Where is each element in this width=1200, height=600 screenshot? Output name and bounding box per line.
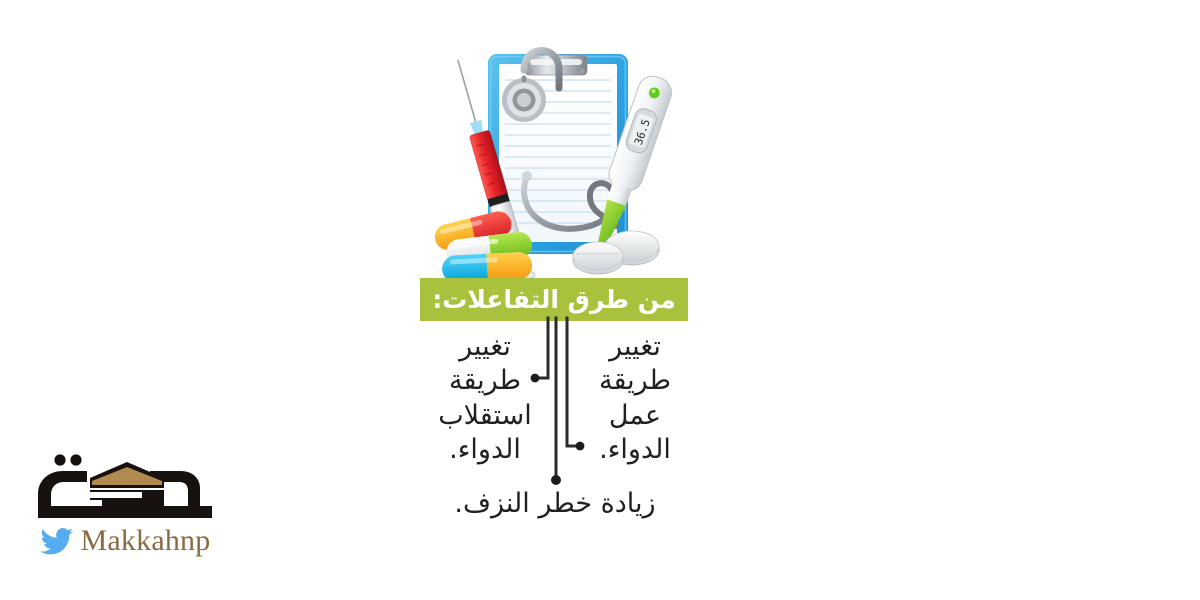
connector-dot-middle [551,475,561,485]
twitter-handle[interactable]: Makkahnp [30,526,220,556]
makkahnp-logo[interactable]: Makkahnp [30,448,220,558]
makkah-wordmark-icon [30,448,220,524]
interaction-item-bottom: زيادة خطر النزف. [420,488,690,520]
interaction-item-left-line-1: تغيير [425,330,545,364]
interaction-item-right: تغيير طريقة عمل الدواء. [575,330,695,467]
interaction-item-left-line-2: طريقة [425,364,545,398]
interaction-item-right-line-2: طريقة [575,364,695,398]
interaction-item-left-line-4: الدواء. [425,433,545,467]
medical-supplies-illustration: 36.5 [420,28,690,280]
twitter-bird-icon [40,528,74,555]
section-banner: من طرق التفاعلات: [420,278,688,321]
interaction-item-right-line-1: تغيير [575,330,695,364]
interaction-item-left: تغيير طريقة استقلاب الدواء. [425,330,545,467]
interaction-item-right-line-4: الدواء. [575,433,695,467]
interaction-item-left-line-3: استقلاب [425,399,545,433]
interaction-item-right-line-3: عمل [575,399,695,433]
infographic-canvas: 36.5 [0,0,1200,600]
handle-text: Makkahnp [81,526,211,556]
banner-title: من طرق التفاعلات: [432,287,676,312]
